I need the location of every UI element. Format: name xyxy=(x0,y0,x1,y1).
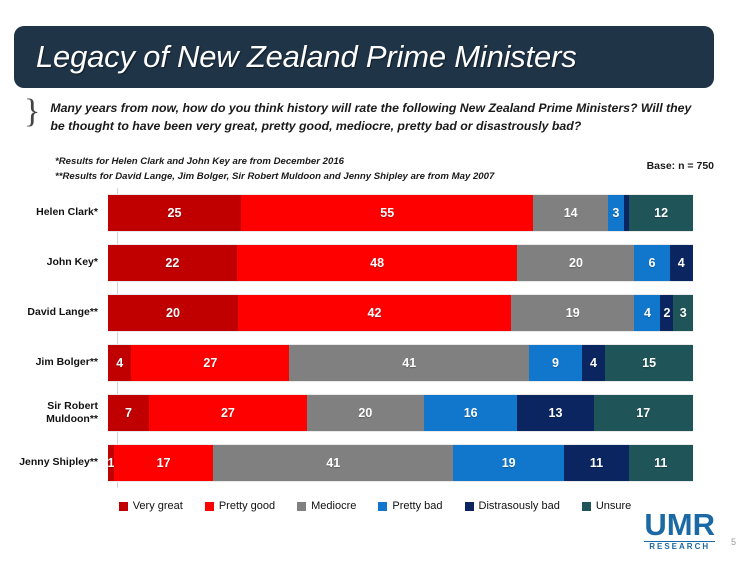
bar-segment-value: 17 xyxy=(636,406,650,420)
bar-segment-value: 20 xyxy=(569,256,583,270)
legend-label: Pretty bad xyxy=(392,500,442,512)
bar-segment: 2 xyxy=(660,295,673,331)
bar-segment: 19 xyxy=(453,445,564,481)
bar-segment: 42 xyxy=(238,295,511,331)
bar-segment: 55 xyxy=(241,195,534,231)
page-number: 5 xyxy=(731,537,736,547)
bar-segment-value: 2 xyxy=(663,306,670,320)
legend-item: Very great xyxy=(119,500,183,512)
bar-segment-value: 12 xyxy=(654,206,668,220)
bar-segment-value: 48 xyxy=(370,256,384,270)
legend-swatch-icon xyxy=(205,502,214,511)
bar-segment: 41 xyxy=(213,445,453,481)
bar-track: 204219423 xyxy=(108,294,693,332)
bar-segment: 48 xyxy=(237,245,518,281)
bar-row-label: David Lange** xyxy=(0,306,108,319)
bar-segment-value: 27 xyxy=(203,356,217,370)
logo-subtext: RESEARCH xyxy=(644,541,715,551)
legend-item: Pretty good xyxy=(205,500,275,512)
bar-segment-value: 9 xyxy=(552,356,559,370)
bar-track: 11741191111 xyxy=(108,444,693,482)
legend-swatch-icon xyxy=(582,502,591,511)
title-banner: Legacy of New Zealand Prime Ministers xyxy=(14,26,714,88)
question-text: Many years from now, how do you think hi… xyxy=(50,100,700,136)
bar-segment-value: 3 xyxy=(612,206,619,220)
bar-segment: 27 xyxy=(131,345,289,381)
bar-segment: 22 xyxy=(108,245,237,281)
bar-segment-value: 27 xyxy=(221,406,235,420)
legend-label: Pretty good xyxy=(219,500,275,512)
bar-segment-value: 13 xyxy=(549,406,563,420)
bar-segment: 12 xyxy=(629,195,693,231)
bar-row-label: Sir Robert Muldoon** xyxy=(0,400,108,426)
bar-segment-value: 17 xyxy=(157,456,171,470)
chart-legend: Very greatPretty goodMediocrePretty badD… xyxy=(0,500,750,512)
legend-label: Mediocre xyxy=(311,500,356,512)
bar-segment: 20 xyxy=(307,395,424,431)
page-title: Legacy of New Zealand Prime Ministers xyxy=(36,39,577,75)
bar-segment: 11 xyxy=(564,445,628,481)
bar-segment: 20 xyxy=(517,245,634,281)
bar-segment: 3 xyxy=(608,195,624,231)
bar-segment-value: 20 xyxy=(166,306,180,320)
bar-segment: 17 xyxy=(594,395,693,431)
bar-segment-value: 4 xyxy=(116,356,123,370)
legend-label: Unsure xyxy=(596,500,631,512)
bar-segment: 41 xyxy=(289,345,529,381)
legend-swatch-icon xyxy=(465,502,474,511)
bar-track: 255514312 xyxy=(108,194,693,232)
bar-segment: 13 xyxy=(517,395,593,431)
bar-segment: 17 xyxy=(114,445,213,481)
bar-segment-value: 6 xyxy=(649,256,656,270)
legend-swatch-icon xyxy=(378,502,387,511)
brace-icon: } xyxy=(24,98,40,126)
legend-swatch-icon xyxy=(297,502,306,511)
bar-segment-value: 4 xyxy=(678,256,685,270)
bar-segment-value: 41 xyxy=(402,356,416,370)
umr-logo: UMR RESEARCH xyxy=(644,509,715,551)
bar-segment-value: 55 xyxy=(380,206,394,220)
bar-track: 72720161317 xyxy=(108,394,693,432)
bar-segment-value: 11 xyxy=(590,456,603,470)
legend-label: Very great xyxy=(133,500,183,512)
chart-rows: Helen Clark*255514312John Key*22482064Da… xyxy=(0,188,750,488)
bar-segment-value: 11 xyxy=(654,456,667,470)
bar-track: 22482064 xyxy=(108,244,693,282)
bar-segment-value: 19 xyxy=(502,456,516,470)
bar-segment: 11 xyxy=(629,445,693,481)
bar-segment-value: 41 xyxy=(326,456,340,470)
bar-segment-value: 7 xyxy=(125,406,132,420)
bar-row: Helen Clark*255514312 xyxy=(0,188,750,238)
bar-segment: 4 xyxy=(582,345,605,381)
bar-segment-value: 15 xyxy=(642,356,656,370)
bar-segment: 3 xyxy=(673,295,693,331)
legend-label: Distrasously bad xyxy=(479,500,560,512)
footnotes: *Results for Helen Clark and John Key ar… xyxy=(55,155,494,185)
bar-segment: 9 xyxy=(529,345,582,381)
bar-row-label: Jenny Shipley** xyxy=(0,456,108,469)
bar-segment: 25 xyxy=(108,195,241,231)
base-label: Base: n = 750 xyxy=(647,160,714,172)
bar-segment-value: 4 xyxy=(644,306,651,320)
bar-row: David Lange**204219423 xyxy=(0,288,750,338)
bar-row: John Key*22482064 xyxy=(0,238,750,288)
bar-segment-value: 25 xyxy=(168,206,182,220)
bar-segment: 14 xyxy=(533,195,607,231)
logo-wordmark: UMR xyxy=(644,509,715,540)
bar-segment: 6 xyxy=(634,245,669,281)
stacked-bar-chart: Helen Clark*255514312John Key*22482064Da… xyxy=(0,188,750,488)
bar-segment: 16 xyxy=(424,395,518,431)
legend-swatch-icon xyxy=(119,502,128,511)
bar-row: Jenny Shipley**11741191111 xyxy=(0,438,750,488)
bar-segment: 4 xyxy=(108,345,131,381)
bar-segment: 7 xyxy=(108,395,149,431)
legend-item: Distrasously bad xyxy=(465,500,560,512)
bar-segment: 27 xyxy=(149,395,307,431)
legend-item: Unsure xyxy=(582,500,631,512)
bar-row: Jim Bolger**427419415 xyxy=(0,338,750,388)
bar-segment-value: 14 xyxy=(564,206,578,220)
bar-row-label: Helen Clark* xyxy=(0,206,108,219)
bar-segment-value: 19 xyxy=(566,306,580,320)
bar-segment-value: 20 xyxy=(358,406,372,420)
bar-segment: 20 xyxy=(108,295,238,331)
bar-track: 427419415 xyxy=(108,344,693,382)
bar-segment: 4 xyxy=(670,245,693,281)
bar-row-label: John Key* xyxy=(0,256,108,269)
bar-segment-value: 4 xyxy=(590,356,597,370)
bar-row-label: Jim Bolger** xyxy=(0,356,108,369)
bar-segment: 4 xyxy=(634,295,660,331)
bar-segment-value: 42 xyxy=(368,306,382,320)
bar-segment: 19 xyxy=(511,295,635,331)
footnote-line-1: *Results for Helen Clark and John Key ar… xyxy=(55,155,494,170)
bar-segment: 15 xyxy=(605,345,693,381)
footnote-line-2: **Results for David Lange, Jim Bolger, S… xyxy=(55,170,494,185)
bar-segment-value: 22 xyxy=(165,256,179,270)
bar-row: Sir Robert Muldoon**72720161317 xyxy=(0,388,750,438)
legend-item: Pretty bad xyxy=(378,500,442,512)
bar-segment-value: 3 xyxy=(680,306,687,320)
question-block: } Many years from now, how do you think … xyxy=(24,100,724,136)
legend-item: Mediocre xyxy=(297,500,356,512)
bar-segment-value: 16 xyxy=(464,406,478,420)
